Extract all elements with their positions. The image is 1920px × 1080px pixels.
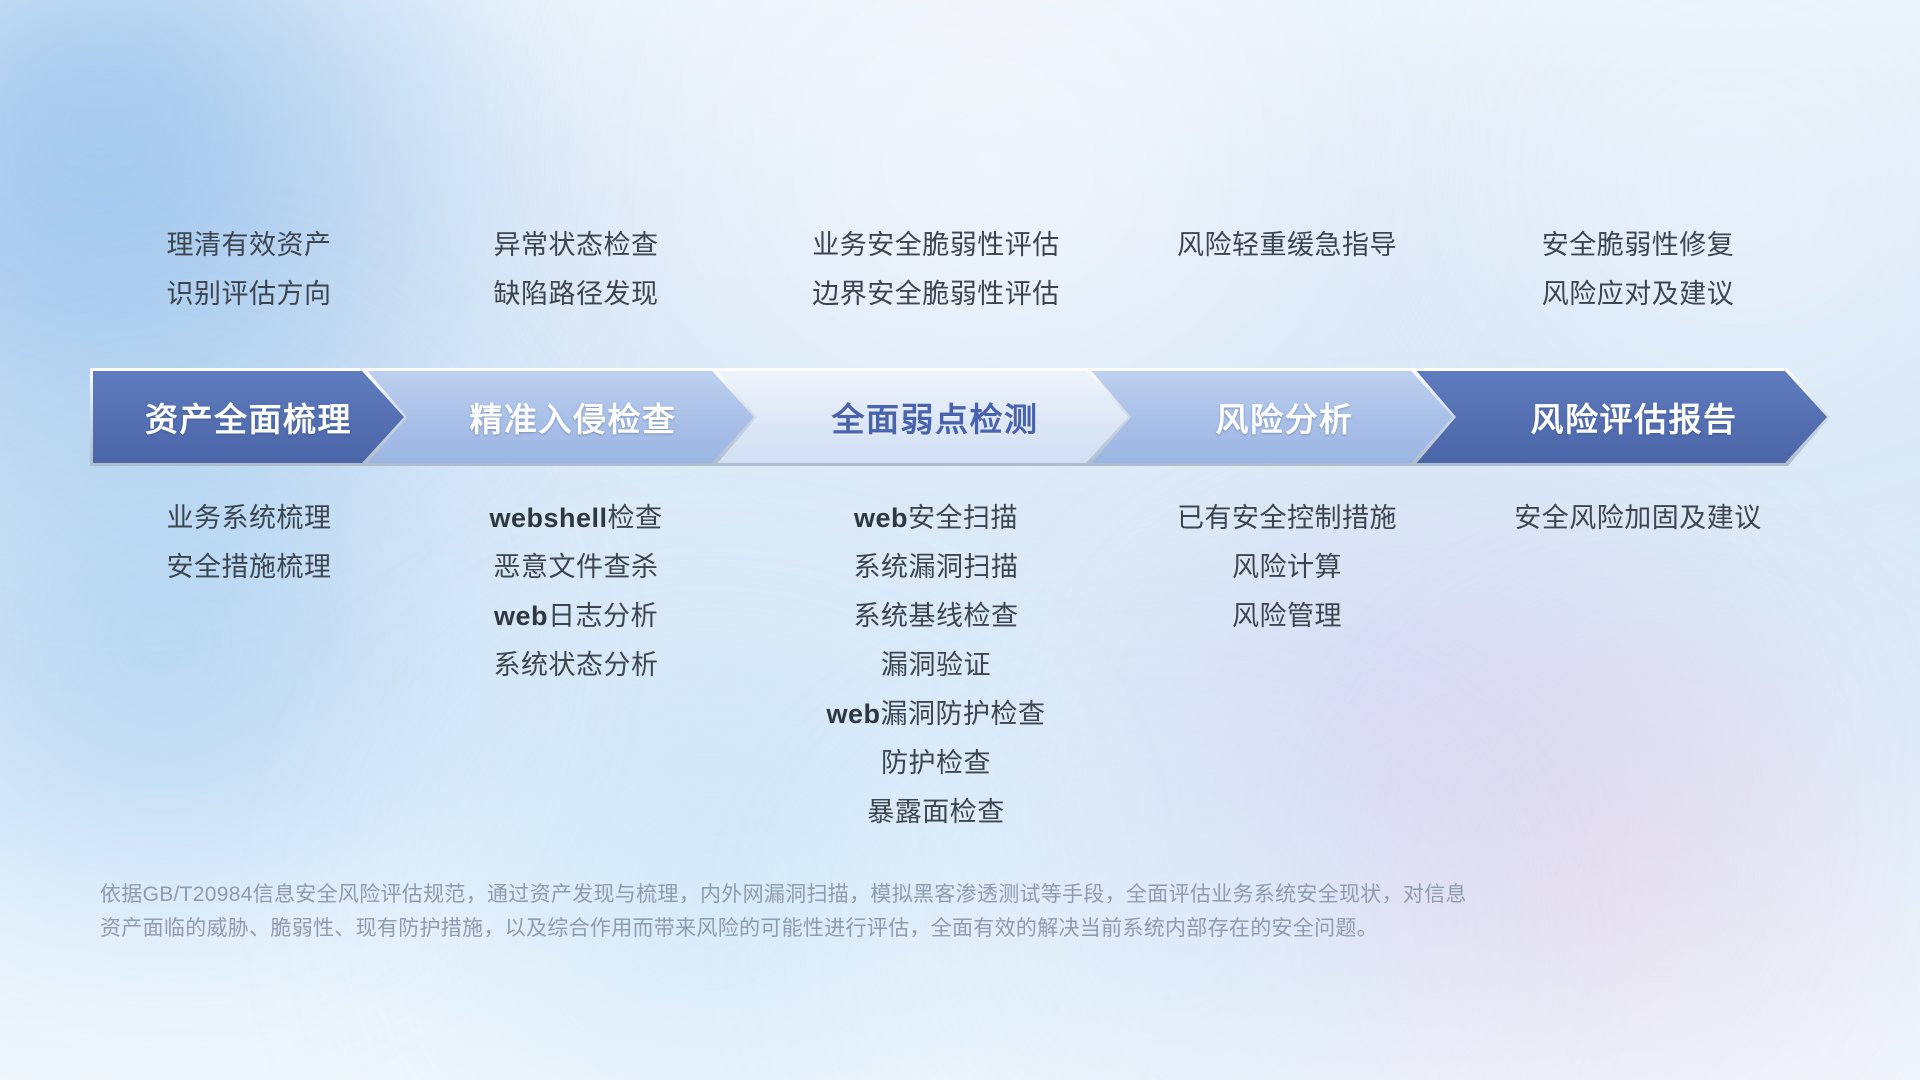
process-stage-label: 风险评估报告: [1505, 393, 1738, 441]
footer-description: 依据GB/T20984信息安全风险评估规范，通过资产发现与梳理，内外网漏洞扫描，…: [100, 878, 1620, 946]
stage-outputs-weakness-detection: 业务安全脆弱性评估边界安全脆弱性评估: [750, 232, 1122, 330]
stage-activity-item: web漏洞防护检查: [826, 701, 1045, 728]
process-stage-risk-report[interactable]: 风险评估报告: [1412, 368, 1830, 466]
stage-outputs-risk-report: 安全脆弱性修复风险应对及建议: [1452, 232, 1824, 330]
stage-activity-item: 业务系统梳理: [167, 505, 332, 532]
stage-activities-asset-inventory: 业务系统梳理安全措施梳理: [96, 505, 402, 603]
stage-activities-row: 业务系统梳理安全措施梳理webshell检查恶意文件查杀web日志分析系统状态分…: [96, 505, 1824, 848]
stage-activity-item: webshell检查: [489, 505, 662, 532]
stage-output-item: 识别评估方向: [167, 281, 332, 308]
stage-activities-risk-report: 安全风险加固及建议: [1452, 505, 1824, 554]
process-stage-label: 资产全面梳理: [145, 393, 352, 441]
process-stage-asset-inventory[interactable]: 资产全面梳理: [90, 368, 407, 466]
stage-output-item: 风险轻重缓急指导: [1177, 232, 1397, 259]
stage-activity-item: 已有安全控制措施: [1177, 505, 1397, 532]
footer-line-1: 依据GB/T20984信息安全风险评估规范，通过资产发现与梳理，内外网漏洞扫描，…: [100, 878, 1620, 912]
stage-activity-item: 风险管理: [1232, 603, 1342, 630]
stage-output-item: 理清有效资产: [167, 232, 332, 259]
process-stage-intrusion-check[interactable]: 精准入侵检查: [363, 368, 757, 466]
process-stage-label: 风险分析: [1190, 393, 1354, 441]
slide-canvas: 理清有效资产识别评估方向异常状态检查缺陷路径发现业务安全脆弱性评估边界安全脆弱性…: [0, 0, 1920, 1080]
stage-activity-item: web安全扫描: [854, 505, 1018, 532]
stage-outputs-risk-analysis: 风险轻重缓急指导: [1122, 232, 1452, 330]
stage-activity-item: 安全风险加固及建议: [1514, 505, 1762, 532]
stage-activity-item: 安全措施梳理: [167, 554, 332, 581]
stage-output-item: 异常状态检查: [494, 232, 659, 259]
stage-activities-risk-analysis: 已有安全控制措施风险计算风险管理: [1122, 505, 1452, 652]
stage-activity-item: 恶意文件查杀: [494, 554, 659, 581]
stage-output-item: 缺陷路径发现: [494, 281, 659, 308]
process-stage-label: 全面弱点检测: [806, 393, 1039, 441]
stage-activity-item: 系统基线检查: [854, 603, 1019, 630]
stage-output-item: 边界安全脆弱性评估: [812, 281, 1060, 308]
process-stage-weakness-detection[interactable]: 全面弱点检测: [713, 368, 1131, 466]
stage-outputs-intrusion-check: 异常状态检查缺陷路径发现: [402, 232, 750, 330]
stage-activity-item: 系统漏洞扫描: [854, 554, 1019, 581]
stage-activity-item: 系统状态分析: [494, 652, 659, 679]
stage-activity-item: 防护检查: [881, 750, 991, 777]
stage-outputs-row: 理清有效资产识别评估方向异常状态检查缺陷路径发现业务安全脆弱性评估边界安全脆弱性…: [96, 232, 1824, 330]
footer-line-2: 资产面临的威胁、脆弱性、现有防护措施，以及综合作用而带来风险的可能性进行评估，全…: [100, 912, 1620, 946]
process-chevron-band: 资产全面梳理精准入侵检查全面弱点检测风险分析风险评估报告: [90, 368, 1830, 466]
stage-outputs-asset-inventory: 理清有效资产识别评估方向: [96, 232, 402, 330]
stage-output-item: 业务安全脆弱性评估: [812, 232, 1060, 259]
stage-activities-intrusion-check: webshell检查恶意文件查杀web日志分析系统状态分析: [402, 505, 750, 701]
stage-activity-item: 漏洞验证: [881, 652, 991, 679]
stage-activity-item: 暴露面检查: [867, 799, 1005, 826]
stage-output-item: 风险应对及建议: [1542, 281, 1735, 308]
stage-output-item: 安全脆弱性修复: [1542, 232, 1735, 259]
process-stage-label: 精准入侵检查: [444, 393, 677, 441]
stage-activities-weakness-detection: web安全扫描系统漏洞扫描系统基线检查漏洞验证web漏洞防护检查防护检查暴露面检…: [750, 505, 1122, 848]
stage-activity-item: 风险计算: [1232, 554, 1342, 581]
stage-activity-item: web日志分析: [494, 603, 658, 630]
process-stage-risk-analysis[interactable]: 风险分析: [1087, 368, 1456, 466]
